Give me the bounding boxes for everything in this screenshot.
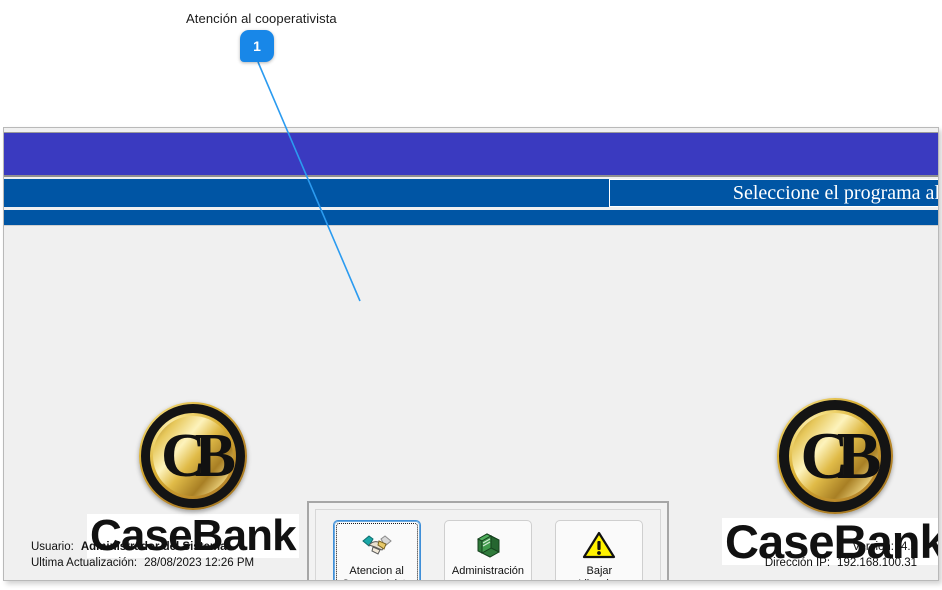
- annotation-label: Atención al cooperativista: [186, 11, 337, 26]
- header-band-blue-lower: [4, 210, 939, 226]
- usuario-label: Usuario:: [31, 539, 74, 555]
- ultima-actualizacion-value: 28/08/2023 12:26 PM: [144, 555, 254, 571]
- coin-monogram: CB: [800, 423, 869, 490]
- header-band-purple: [4, 132, 939, 177]
- annotation-marker-1: 1: [240, 30, 274, 62]
- header-title-text: Seleccione el programa al: [733, 181, 939, 205]
- version-value: 4.5: [901, 539, 917, 555]
- application-window: Seleccione el programa al CB CaseBank CB…: [3, 127, 939, 581]
- window-body: CB CaseBank CB CaseBank: [4, 226, 939, 581]
- footer-row-direccion-ip: Dirección IP: 192.168.100.31: [765, 555, 917, 571]
- casebank-coin-icon: CB: [777, 398, 893, 514]
- direccion-ip-label: Dirección IP:: [765, 555, 830, 571]
- usuario-value: Administrador del Sistema: [81, 539, 227, 555]
- footer-row-usuario: Usuario: Administrador del Sistema: [31, 539, 254, 555]
- casebank-coin-icon: CB: [139, 402, 247, 510]
- coin-monogram: CB: [161, 425, 225, 487]
- footer-row-version: Version: 4.5: [765, 539, 917, 555]
- status-footer: Usuario: Administrador del Sistema Ultim…: [4, 532, 939, 581]
- footer-system-info: Version: 4.5 Dirección IP: 192.168.100.3…: [765, 539, 917, 571]
- ultima-actualizacion-label: Ultima Actualización:: [31, 555, 137, 571]
- version-label: Version:: [852, 539, 894, 555]
- direccion-ip-value: 192.168.100.31: [837, 555, 917, 571]
- footer-user-info: Usuario: Administrador del Sistema Ultim…: [31, 539, 254, 571]
- header-title-box: Seleccione el programa al: [609, 179, 939, 207]
- footer-row-ultima-actualizacion: Ultima Actualización: 28/08/2023 12:26 P…: [31, 555, 254, 571]
